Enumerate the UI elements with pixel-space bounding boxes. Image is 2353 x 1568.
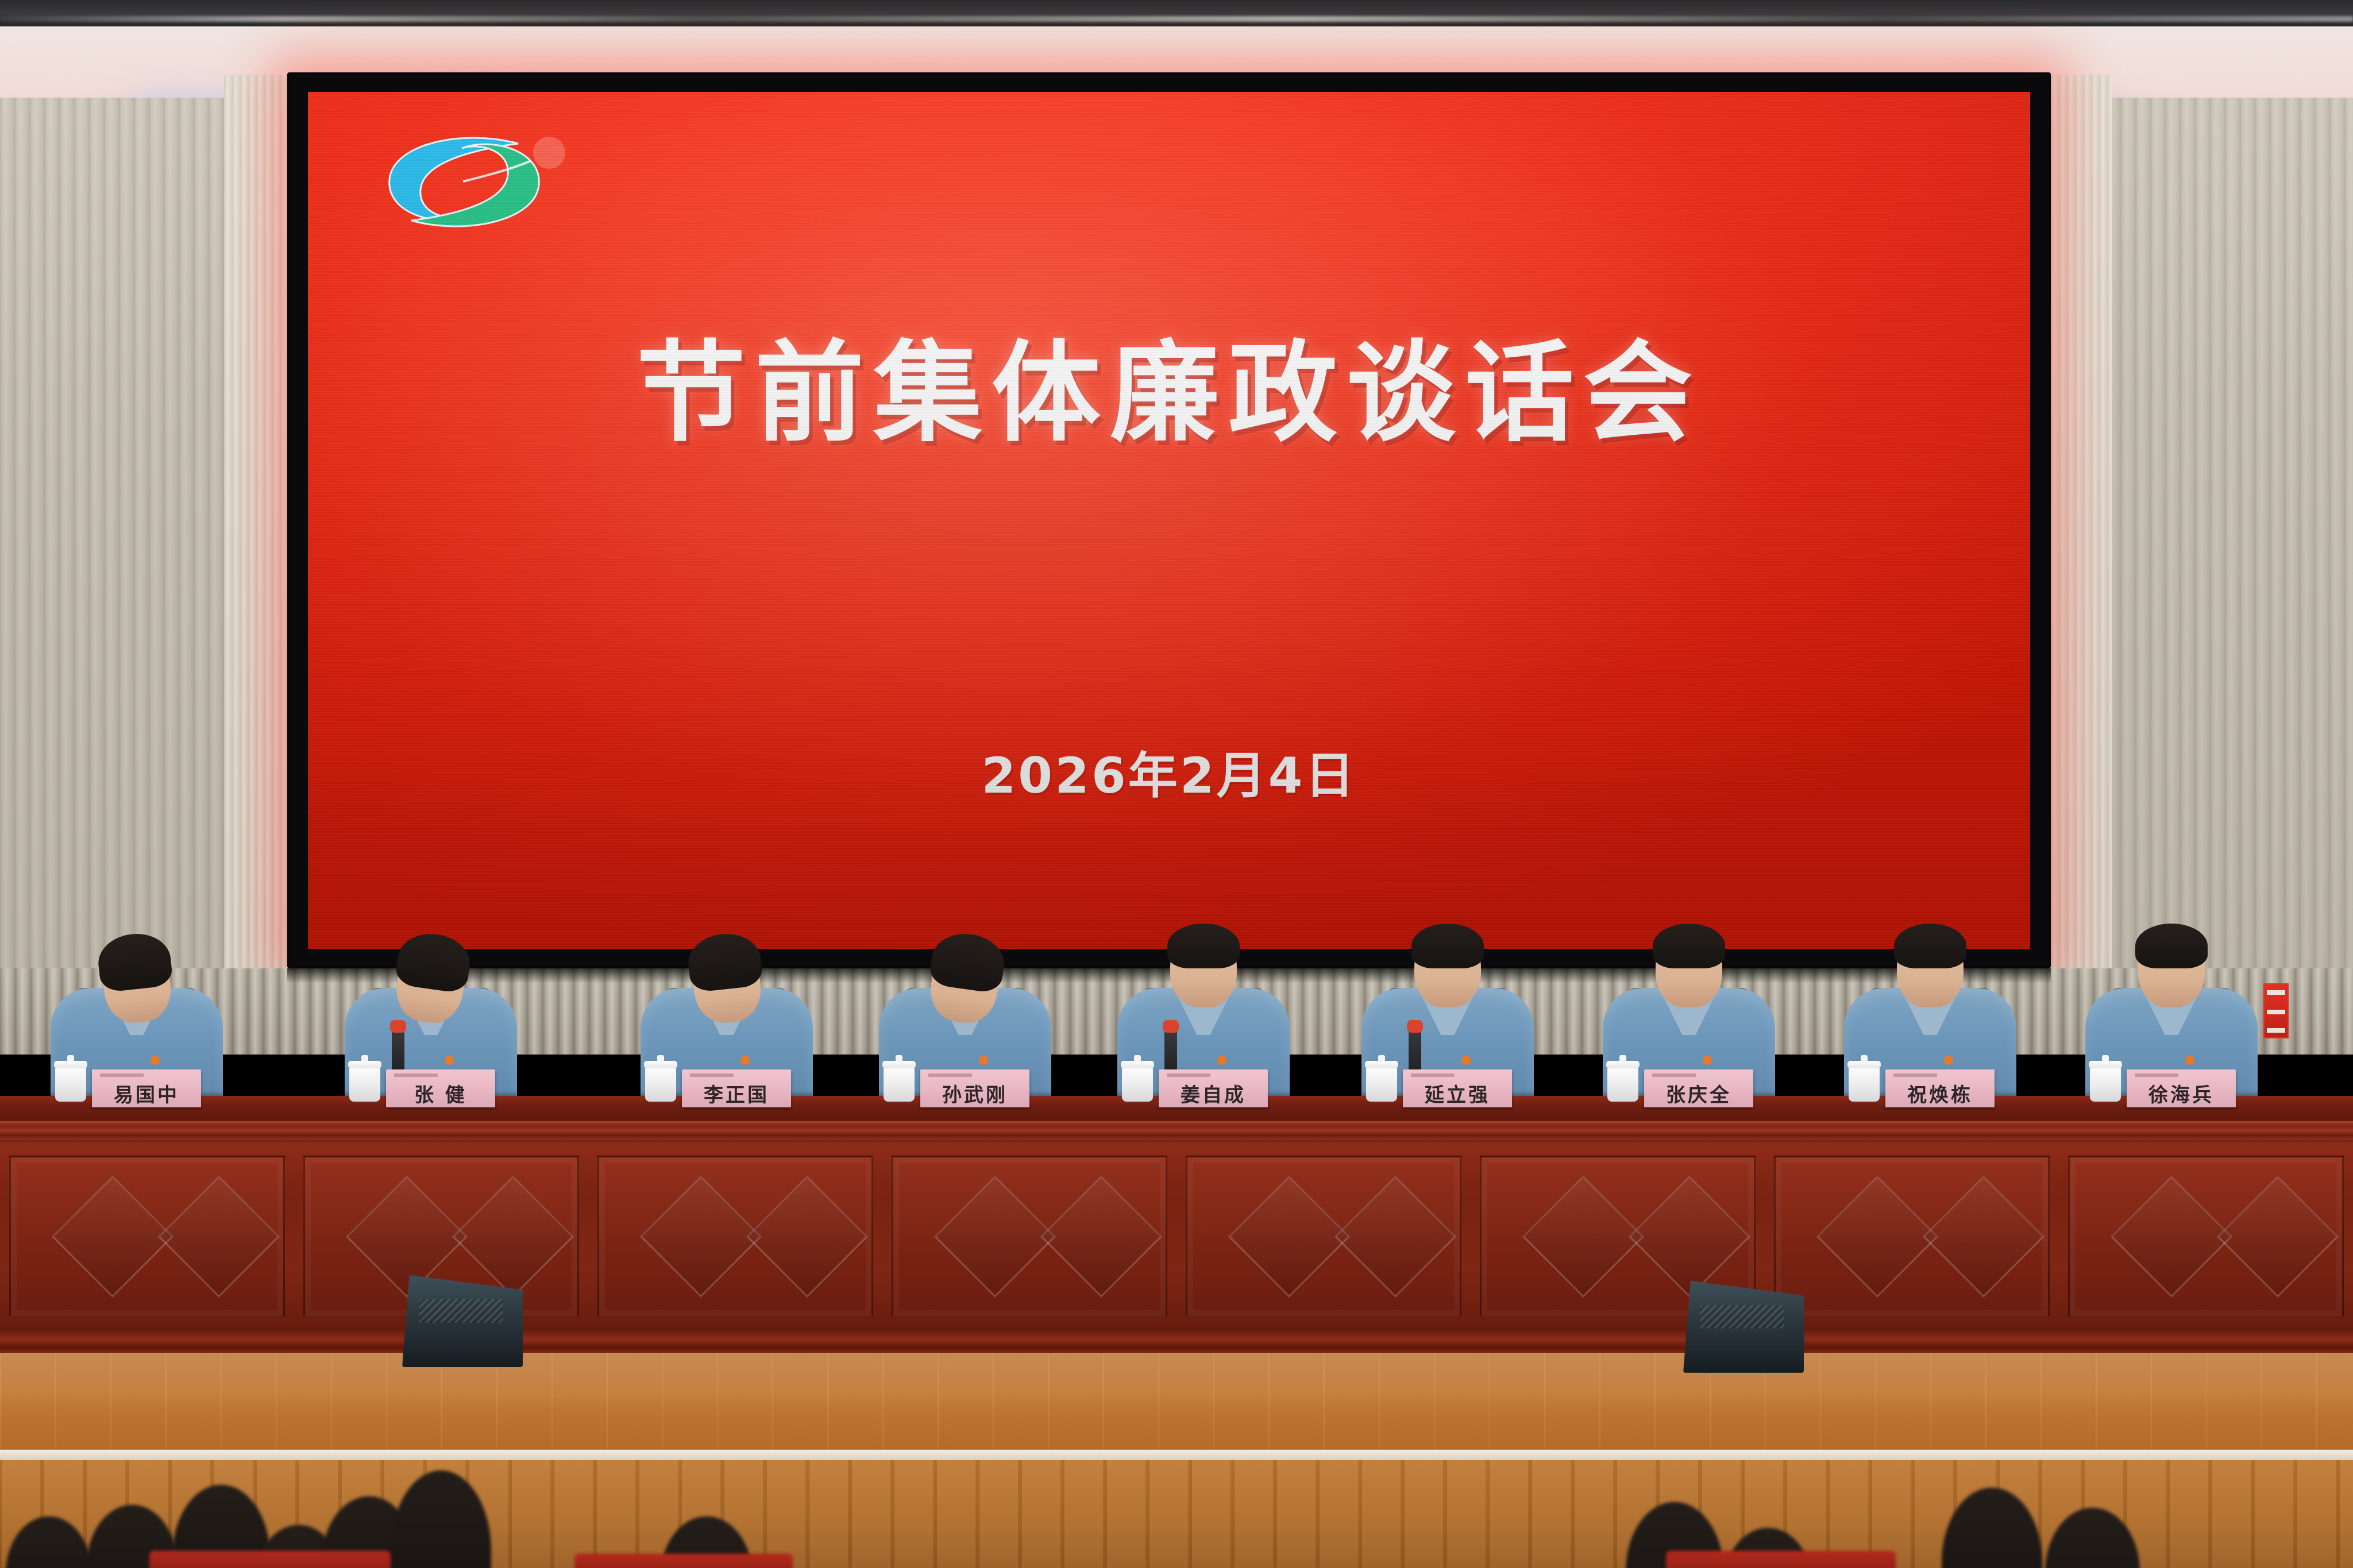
table-front-panel <box>9 1156 285 1318</box>
participant-hair <box>1411 924 1484 968</box>
screen-date: 2026年2月4日 <box>308 735 2030 807</box>
stage-monitor-speaker-right <box>1683 1281 1804 1373</box>
lapel-badge-icon <box>1944 1056 1953 1065</box>
participant-nameplate: 姜自成 <box>1159 1069 1268 1107</box>
stage-monitor-speaker-left <box>402 1275 523 1367</box>
participant-hair <box>686 930 763 993</box>
tea-cup <box>349 1066 380 1102</box>
stage-floor <box>0 1353 2353 1457</box>
participant-hair <box>1894 924 1966 968</box>
tea-cup <box>55 1066 86 1102</box>
s-swirl-logo-icon <box>377 126 549 235</box>
tea-cup <box>1849 1066 1880 1102</box>
audience-seat <box>574 1554 793 1568</box>
participant-nameplate: 孙武刚 <box>920 1069 1029 1107</box>
audience-seat <box>1666 1551 1896 1568</box>
participant-nameplate: 祝焕栋 <box>1885 1069 1995 1107</box>
lapel-badge-icon <box>151 1056 160 1065</box>
tea-cup <box>645 1066 676 1102</box>
tea-cup <box>1122 1066 1153 1102</box>
screen-title: 节前集体廉政谈话会 <box>308 339 2030 448</box>
table-panel-diamond <box>158 1176 280 1297</box>
table-panel-diamond <box>2111 1176 2232 1297</box>
fire-safety-sign <box>2263 983 2289 1038</box>
participant-head <box>2138 927 2205 1007</box>
wall-column-left <box>224 75 293 1051</box>
participant-head <box>1414 927 1481 1007</box>
conference-hall-photo: 节前集体廉政谈话会 2026年2月4日 易国中张 健李正国孙武刚姜自成延立强张庆… <box>0 0 2353 1568</box>
participant-name: 易国中 <box>114 1086 179 1105</box>
table-panel-diamond <box>346 1176 468 1297</box>
company-logo <box>377 126 566 247</box>
tea-cup <box>884 1066 915 1102</box>
participant-name: 孙武刚 <box>942 1086 1008 1105</box>
table-panel-diamond <box>52 1176 173 1297</box>
tea-cup <box>1607 1066 1638 1102</box>
participant-head <box>1656 927 1722 1007</box>
table-panel-diamond <box>1334 1176 1456 1297</box>
tea-cup <box>2090 1066 2121 1102</box>
participant-head <box>1897 927 1964 1007</box>
lapel-badge-icon <box>2185 1056 2194 1065</box>
head-table-front <box>0 1142 2353 1354</box>
audience-seat <box>149 1551 391 1568</box>
table-panel-diamond <box>2217 1176 2339 1297</box>
table-panel-diamond <box>1923 1176 2045 1297</box>
table-panel-diamond <box>746 1176 868 1297</box>
participant-nameplate: 易国中 <box>92 1069 201 1107</box>
participant-hair <box>96 930 173 993</box>
participant-name: 姜自成 <box>1181 1086 1246 1105</box>
lapel-badge-icon <box>740 1056 750 1065</box>
logo-highlight-dot <box>533 137 565 169</box>
participant-nameplate: 张庆全 <box>1644 1069 1753 1107</box>
participant-nameplate: 徐海兵 <box>2127 1069 2236 1107</box>
lapel-badge-icon <box>979 1056 988 1065</box>
table-panel-diamond <box>934 1176 1056 1297</box>
participant-hair <box>2135 924 2208 968</box>
table-panel-diamond <box>1228 1176 1350 1297</box>
participant-name: 张庆全 <box>1666 1086 1731 1105</box>
led-screen: 节前集体廉政谈话会 2026年2月4日 <box>308 92 2030 949</box>
participant-name: 李正国 <box>704 1086 769 1105</box>
table-front-panel <box>892 1156 1167 1318</box>
participant-hair <box>1653 924 1725 968</box>
table-front-panel <box>1186 1156 1461 1318</box>
participant-nameplate: 延立强 <box>1403 1069 1512 1107</box>
participant-hair <box>928 929 1008 994</box>
participant-name: 延立强 <box>1425 1086 1490 1105</box>
table-panel-diamond <box>640 1176 762 1297</box>
lapel-badge-icon <box>1703 1056 1712 1065</box>
led-screen-bezel: 节前集体廉政谈话会 2026年2月4日 <box>287 72 2051 968</box>
participant-name: 张 健 <box>414 1086 467 1105</box>
participant-hair <box>1167 924 1240 968</box>
table-front-panel <box>597 1156 873 1318</box>
table-front-panel <box>2068 1156 2344 1318</box>
table-panel-diamond <box>1522 1176 1644 1297</box>
participant-nameplate: 张 健 <box>386 1069 495 1107</box>
participant-name: 徐海兵 <box>2148 1086 2214 1105</box>
participant-hair <box>394 929 473 994</box>
participant-name: 祝焕栋 <box>1907 1086 1973 1105</box>
head-table-edge-moulding <box>0 1121 2353 1144</box>
participant-head <box>1170 927 1237 1007</box>
participant-nameplate: 李正国 <box>682 1069 791 1107</box>
lapel-badge-icon <box>445 1056 454 1065</box>
table-panel-diamond <box>452 1176 574 1297</box>
tea-cup <box>1366 1066 1397 1102</box>
table-front-panel <box>1774 1156 2050 1318</box>
wall-column-right <box>2043 75 2112 1051</box>
lapel-badge-icon <box>1461 1056 1471 1065</box>
table-panel-diamond <box>1629 1176 1750 1297</box>
table-panel-diamond <box>1816 1176 1938 1297</box>
lapel-badge-icon <box>1217 1056 1226 1065</box>
table-panel-diamond <box>1040 1176 1162 1297</box>
